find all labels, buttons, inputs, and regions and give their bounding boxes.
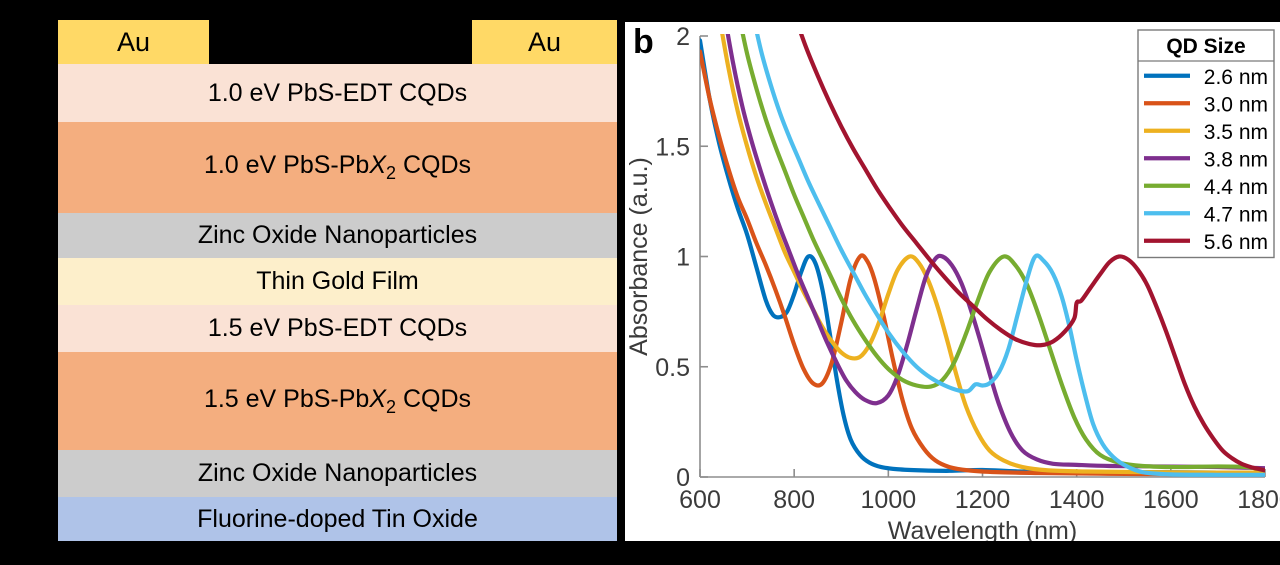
- legend-label-38nm: 3.8 nm: [1204, 148, 1268, 171]
- x-axis-tick-label: 1200: [955, 486, 1011, 514]
- y-axis-tick-label: 1.5: [655, 133, 690, 161]
- stack-layer-label: 1.5 eV PbS-EDT CQDs: [208, 316, 467, 341]
- stack-layer: 1.5 eV PbS-PbX2 CQDs: [58, 352, 617, 450]
- stack-layer: 1.0 eV PbS-PbX2 CQDs: [58, 122, 617, 213]
- legend-label-44nm: 4.4 nm: [1204, 176, 1268, 199]
- device-stack-diagram: Au Au 1.0 eV PbS-EDT CQDs1.0 eV PbS-PbX2…: [0, 0, 625, 565]
- stack-layer: Fluorine-doped Tin Oxide: [58, 497, 617, 541]
- stack-layer-label: 1.5 eV PbS-PbX2 CQDs: [204, 387, 471, 416]
- x-axis-tick-label: 1600: [1143, 486, 1199, 514]
- stack-layer: Thin Gold Film: [58, 258, 617, 305]
- y-axis-tick-label: 2: [676, 23, 690, 51]
- x-axis-title: Wavelength (nm): [888, 517, 1077, 541]
- x-axis-tick-label: 1400: [1049, 486, 1105, 514]
- legend-label-47nm: 4.7 nm: [1204, 203, 1268, 226]
- y-axis-tick-label: 1: [676, 244, 690, 272]
- au-contact-left-label: Au: [117, 27, 150, 58]
- absorbance-plot: 00.511.5260080010001200140016001800Wavel…: [625, 22, 1280, 541]
- stack-layer-label: Fluorine-doped Tin Oxide: [197, 507, 478, 532]
- stack-layer-label: 1.0 eV PbS-PbX2 CQDs: [204, 153, 471, 182]
- stack-layer-label: Zinc Oxide Nanoparticles: [198, 223, 477, 248]
- stack-layer-label: Zinc Oxide Nanoparticles: [198, 461, 477, 486]
- x-axis-tick-label: 800: [773, 486, 815, 514]
- x-axis-tick-label: 1800: [1237, 486, 1280, 514]
- legend: QD Size2.6 nm3.0 nm3.5 nm3.8 nm4.4 nm4.7…: [1138, 30, 1274, 258]
- au-contact-right: Au: [472, 20, 617, 64]
- stack-layer: Zinc Oxide Nanoparticles: [58, 450, 617, 497]
- x-axis-tick-label: 600: [679, 486, 721, 514]
- au-contact-right-label: Au: [528, 27, 561, 58]
- x-axis-tick-label: 1000: [861, 486, 917, 514]
- absorbance-chart-panel: b 00.511.5260080010001200140016001800Wav…: [625, 22, 1280, 541]
- legend-label-26nm: 2.6 nm: [1204, 66, 1268, 89]
- stack-layer-label: Thin Gold Film: [256, 269, 419, 294]
- legend-label-30nm: 3.0 nm: [1204, 93, 1268, 116]
- legend-title: QD Size: [1166, 35, 1245, 58]
- legend-label-35nm: 3.5 nm: [1204, 121, 1268, 144]
- stack-layer: 1.5 eV PbS-EDT CQDs: [58, 305, 617, 352]
- figure-root: Au Au 1.0 eV PbS-EDT CQDs1.0 eV PbS-PbX2…: [0, 0, 1280, 565]
- y-axis-tick-label: 0.5: [655, 354, 690, 382]
- au-contact-left: Au: [58, 20, 209, 64]
- stack-layer-label: 1.0 eV PbS-EDT CQDs: [208, 81, 467, 106]
- stack-layer: 1.0 eV PbS-EDT CQDs: [58, 64, 617, 122]
- legend-label-56nm: 5.6 nm: [1204, 231, 1268, 254]
- y-axis-title: Absorbance (a.u.): [625, 157, 653, 356]
- stack-layer: Zinc Oxide Nanoparticles: [58, 213, 617, 258]
